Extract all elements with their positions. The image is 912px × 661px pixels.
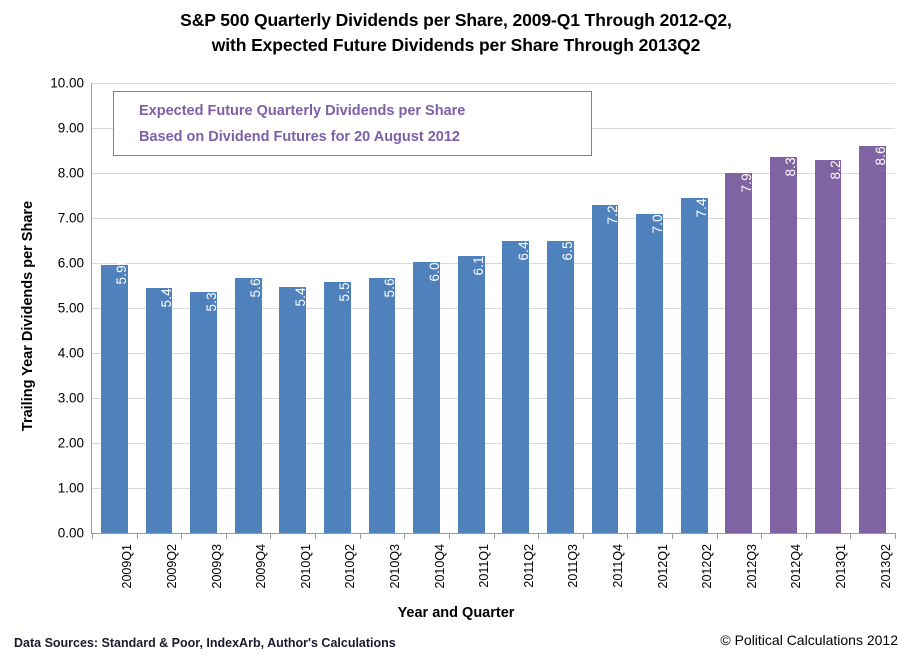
bar: 5.58 [324,282,351,533]
x-axis-tick-label: 2011Q1 [477,544,491,588]
bar: 5.44 [146,288,173,533]
x-axis-tick-label: 2012Q2 [700,544,714,588]
x-axis-tick-mark [717,533,718,539]
x-axis-tick-mark [92,533,93,539]
x-axis-tick-mark [761,533,762,539]
bar-value-label: 7.09 [650,206,665,233]
x-axis-tick-mark [850,533,851,539]
x-axis-tick-label: 2010Q3 [388,544,402,588]
x-axis-tick-label: 2011Q2 [522,544,536,588]
y-axis-tick-label: 0.00 [24,526,84,541]
x-axis-tick-label: 2009Q2 [165,544,179,588]
x-axis-title: Year and Quarter [0,605,912,621]
bar-value-label: 6.16 [471,248,486,275]
bar: 6.03 [413,262,440,533]
bar-value-label: 6.49 [516,233,531,260]
x-axis-tick-mark [404,533,405,539]
y-axis-tick-label: 5.00 [24,301,84,316]
legend-annotation-box: Expected Future Quarterly Dividends per … [113,91,592,156]
bar: 7.45 [681,198,708,533]
x-axis-tick-mark [449,533,450,539]
y-axis-tick-label: 2.00 [24,436,84,451]
chart-title-line-2: with Expected Future Dividends per Share… [0,33,912,58]
x-axis-tick-mark [538,533,539,539]
x-axis-tick-label: 2012Q3 [745,544,759,588]
bar: 6.49 [502,241,529,533]
bar: 5.66 [369,278,396,533]
x-axis-tick-mark [270,533,271,539]
x-axis-tick-mark [627,533,628,539]
x-axis-tick-mark [315,533,316,539]
x-axis-tick-label: 2012Q1 [656,544,670,588]
bar-value-label: 5.96 [114,257,129,284]
bar: 7.28 [592,205,619,533]
bar: 7.99 [725,173,752,533]
x-axis-tick-mark [181,533,182,539]
x-axis-tick-label: 2012Q4 [789,544,803,588]
bar-value-label: 7.28 [605,198,620,225]
x-axis-tick-mark [360,533,361,539]
bar-value-label: 8.35 [783,150,798,177]
x-axis-tick-mark [895,533,896,539]
bar-value-label: 8.28 [828,153,843,180]
x-axis-tick-mark [806,533,807,539]
x-axis-tick-mark [494,533,495,539]
bar-value-label: 7.45 [694,190,709,217]
bar: 5.46 [279,287,306,533]
footer-copyright: © Political Calculations 2012 [720,632,898,648]
x-axis-tick-label: 2013Q1 [834,544,848,588]
footer-data-sources: Data Sources: Standard & Poor, IndexArb,… [14,636,396,650]
bar-value-label: 7.99 [739,166,754,193]
chart-title-line-1: S&P 500 Quarterly Dividends per Share, 2… [180,10,732,30]
y-axis-tick-label: 1.00 [24,481,84,496]
x-axis-tick-label: 2009Q4 [254,544,268,588]
bar: 5.96 [101,265,128,533]
legend-annotation-line-1: Expected Future Quarterly Dividends per … [139,98,591,124]
x-axis-tick-label: 2013Q2 [879,544,893,588]
bar: 7.09 [636,214,663,533]
y-axis-ticks: 0.001.002.003.004.005.006.007.008.009.00… [14,83,84,533]
x-axis-tick-label: 2011Q3 [566,544,580,588]
bar: 8.61 [859,146,886,533]
bar: 6.50 [547,241,574,534]
y-axis-tick-label: 10.00 [24,76,84,91]
bar: 5.35 [190,292,217,533]
x-axis-tick-mark [583,533,584,539]
y-axis-tick-label: 4.00 [24,346,84,361]
bar-value-label: 5.46 [293,280,308,307]
x-axis-tick-label: 2009Q3 [210,544,224,588]
x-axis-tick-label: 2011Q4 [611,544,625,588]
y-axis-tick-label: 8.00 [24,166,84,181]
x-axis-tick-label: 2009Q1 [120,544,134,588]
x-axis-tick-label: 2010Q4 [433,544,447,588]
y-axis-tick-label: 9.00 [24,121,84,136]
y-axis-tick-label: 7.00 [24,211,84,226]
bar-value-label: 5.44 [159,281,174,308]
x-axis-tick-label: 2010Q2 [343,544,357,588]
bar: 8.35 [770,157,797,533]
bar-value-label: 5.58 [337,274,352,301]
chart-container: S&P 500 Quarterly Dividends per Share, 2… [0,0,912,661]
y-axis-tick-label: 3.00 [24,391,84,406]
x-axis-tick-label: 2010Q1 [299,544,313,588]
y-axis-tick-label: 6.00 [24,256,84,271]
bar: 5.66 [235,278,262,533]
bar-value-label: 5.35 [204,285,219,312]
bar-value-label: 6.03 [427,254,442,281]
chart-title: S&P 500 Quarterly Dividends per Share, 2… [0,8,912,58]
x-axis-tick-mark [226,533,227,539]
bar: 6.16 [458,256,485,533]
bar-value-label: 8.61 [873,138,888,165]
bar-value-label: 6.50 [560,233,575,260]
legend-annotation-line-2: Based on Dividend Futures for 20 August … [139,124,591,150]
x-axis-tick-mark [672,533,673,539]
x-axis-tick-mark [137,533,138,539]
bar: 8.28 [815,160,842,533]
bar-value-label: 5.66 [248,271,263,298]
bar-value-label: 5.66 [382,271,397,298]
